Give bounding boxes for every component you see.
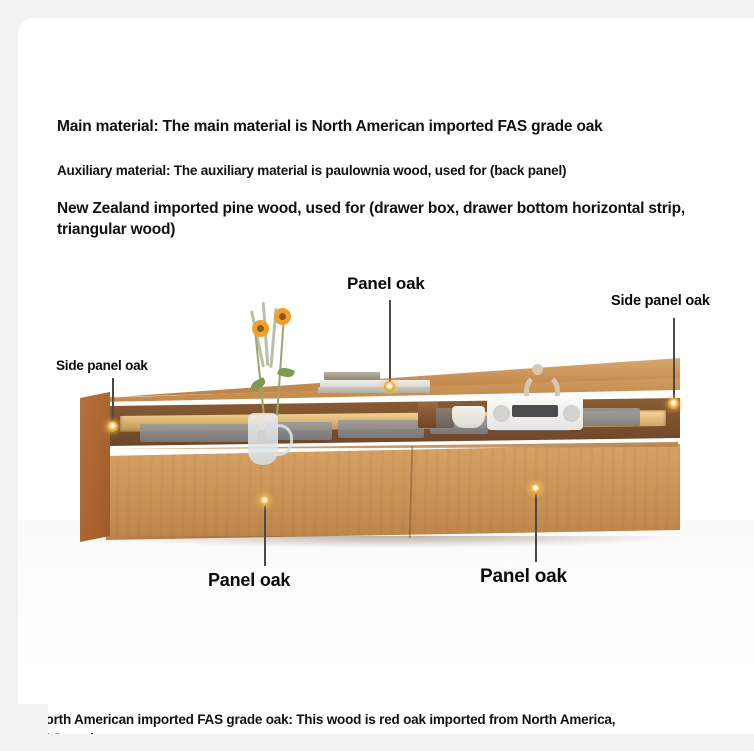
leader-dot-panel-oak-bottom-right bbox=[530, 483, 541, 494]
content-card: Main material: The main material is Nort… bbox=[18, 18, 754, 734]
shelf-object bbox=[338, 420, 424, 438]
leader-line-side-panel-left bbox=[112, 378, 114, 420]
decor-statuette bbox=[520, 364, 554, 400]
main-material-text: Main material: The main material is Nort… bbox=[57, 118, 603, 136]
leader-line-side-panel-right bbox=[673, 318, 675, 400]
fas-grade-oak-note: North American imported FAS grade oak: T… bbox=[36, 710, 636, 734]
leader-dot-panel-oak-top bbox=[384, 381, 395, 392]
cabinet-base-shadow bbox=[102, 536, 682, 548]
callout-panel-oak-bottom-left: Panel oak bbox=[208, 570, 290, 591]
speaker-grill-right bbox=[563, 405, 580, 422]
leader-line-panel-oak-top bbox=[389, 300, 391, 384]
callout-panel-oak-bottom-right: Panel oak bbox=[480, 566, 567, 588]
page-root: Main material: The main material is Nort… bbox=[0, 0, 754, 751]
leader-line-panel-oak-bottom-left bbox=[264, 502, 266, 566]
decor-sunflower bbox=[274, 308, 291, 325]
material-spec-block: Main material: The main material is Nort… bbox=[18, 18, 754, 250]
leader-dot-panel-oak-bottom-left bbox=[259, 495, 270, 506]
speaker-grill-left bbox=[493, 405, 510, 422]
decor-book bbox=[320, 380, 430, 387]
callout-side-panel-oak-right: Side panel oak bbox=[611, 293, 710, 309]
leader-line-panel-oak-bottom-right bbox=[535, 490, 537, 562]
speaker-display bbox=[512, 405, 558, 417]
leader-dot-side-panel-right bbox=[668, 398, 679, 409]
shelf-object bbox=[578, 408, 640, 426]
callout-panel-oak-top: Panel oak bbox=[347, 274, 425, 294]
footnote-block: North American imported FAS grade oak: T… bbox=[18, 670, 754, 734]
decor-pitcher-handle bbox=[274, 424, 293, 456]
pine-material-text: New Zealand imported pine wood, used for… bbox=[57, 198, 722, 241]
cabinet-drawer-front bbox=[106, 444, 680, 540]
auxiliary-material-text: Auxiliary material: The auxiliary materi… bbox=[57, 163, 566, 178]
annotated-product-photo: Side panel oak Panel oak Side panel oak … bbox=[18, 250, 754, 670]
decor-canister bbox=[418, 402, 438, 428]
leader-dot-side-panel-left bbox=[107, 421, 118, 432]
tv-cabinet-illustration bbox=[80, 358, 680, 568]
decor-sunflower bbox=[252, 320, 269, 337]
cabinet-side-panel bbox=[80, 392, 110, 542]
callout-side-panel-oak-left: Side panel oak bbox=[56, 358, 148, 373]
decor-book bbox=[318, 387, 430, 393]
decor-book bbox=[324, 372, 380, 380]
shelf-object bbox=[140, 424, 258, 442]
decor-bowl bbox=[452, 406, 485, 428]
